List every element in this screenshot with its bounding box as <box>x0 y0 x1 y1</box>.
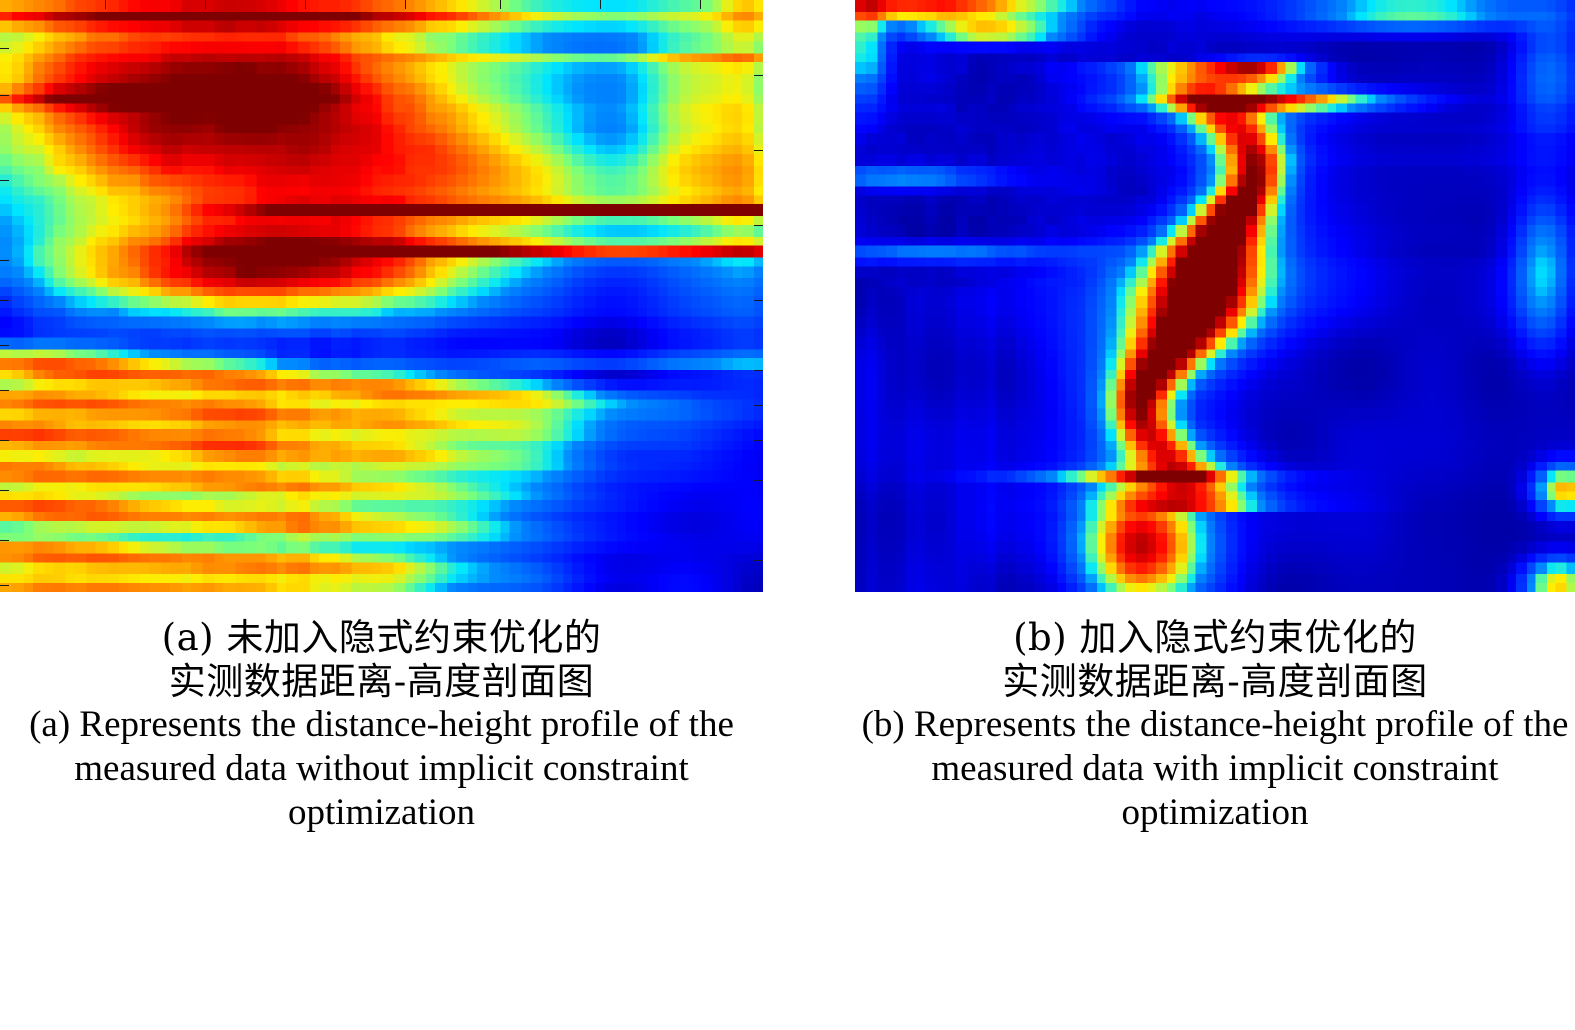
heatmap-b-canvas <box>855 0 1575 592</box>
axis-tick-left <box>0 345 9 346</box>
caption-b-english: (b) Represents the distance-height profi… <box>855 703 1575 834</box>
axis-tick-left <box>0 585 9 586</box>
heatmap-b <box>855 0 1575 592</box>
caption-a-english: (a) Represents the distance-height profi… <box>0 703 763 834</box>
heatmap-a-canvas <box>0 0 763 592</box>
caption-a: (a) 未加入隐式约束优化的 实测数据距离-高度剖面图 (a) Represen… <box>0 616 763 834</box>
panel-a: (a) 未加入隐式约束优化的 实测数据距离-高度剖面图 (a) Represen… <box>0 0 763 834</box>
axis-tick-top <box>105 0 106 9</box>
axis-tick-left <box>0 440 9 441</box>
axis-tick-left <box>0 260 9 261</box>
axis-tick-right <box>754 300 763 301</box>
axis-tick-right <box>754 75 763 76</box>
axis-tick-top <box>205 0 206 9</box>
axis-tick-left <box>0 490 9 491</box>
axis-tick-right <box>754 440 763 441</box>
figure-root: (a) 未加入隐式约束优化的 实测数据距离-高度剖面图 (a) Represen… <box>0 0 1575 1030</box>
caption-b-english-text: (b) Represents the distance-height profi… <box>855 703 1575 834</box>
axis-tick-left <box>0 48 9 49</box>
caption-b-chinese-line2: 实测数据距离-高度剖面图 <box>855 660 1575 704</box>
caption-b: (b) 加入隐式约束优化的 实测数据距离-高度剖面图 (b) Represent… <box>855 616 1575 834</box>
axis-tick-top <box>305 0 306 9</box>
caption-a-chinese-line1: (a) 未加入隐式约束优化的 <box>0 616 763 660</box>
axis-tick-right <box>754 225 763 226</box>
axis-tick-right <box>754 560 763 561</box>
axis-tick-left <box>0 180 9 181</box>
axis-tick-left <box>0 390 9 391</box>
axis-tick-top <box>600 0 601 9</box>
caption-b-chinese-line1: (b) 加入隐式约束优化的 <box>855 616 1575 660</box>
caption-a-chinese-line2: 实测数据距离-高度剖面图 <box>0 660 763 704</box>
panel-b: (b) 加入隐式约束优化的 实测数据距离-高度剖面图 (b) Represent… <box>855 0 1575 834</box>
heatmap-a <box>0 0 763 592</box>
axis-tick-left <box>0 95 9 96</box>
axis-tick-top <box>700 0 701 9</box>
caption-a-chinese: (a) 未加入隐式约束优化的 实测数据距离-高度剖面图 <box>0 616 763 703</box>
caption-b-chinese: (b) 加入隐式约束优化的 实测数据距离-高度剖面图 <box>855 616 1575 703</box>
axis-tick-right <box>754 150 763 151</box>
axis-tick-left <box>0 540 9 541</box>
axis-tick-top <box>500 0 501 9</box>
axis-tick-top <box>405 0 406 9</box>
axis-tick-right <box>754 480 763 481</box>
caption-a-english-text: (a) Represents the distance-height profi… <box>0 703 763 834</box>
axis-tick-left <box>0 300 9 301</box>
axis-tick-right <box>754 405 763 406</box>
axis-tick-right <box>754 370 763 371</box>
